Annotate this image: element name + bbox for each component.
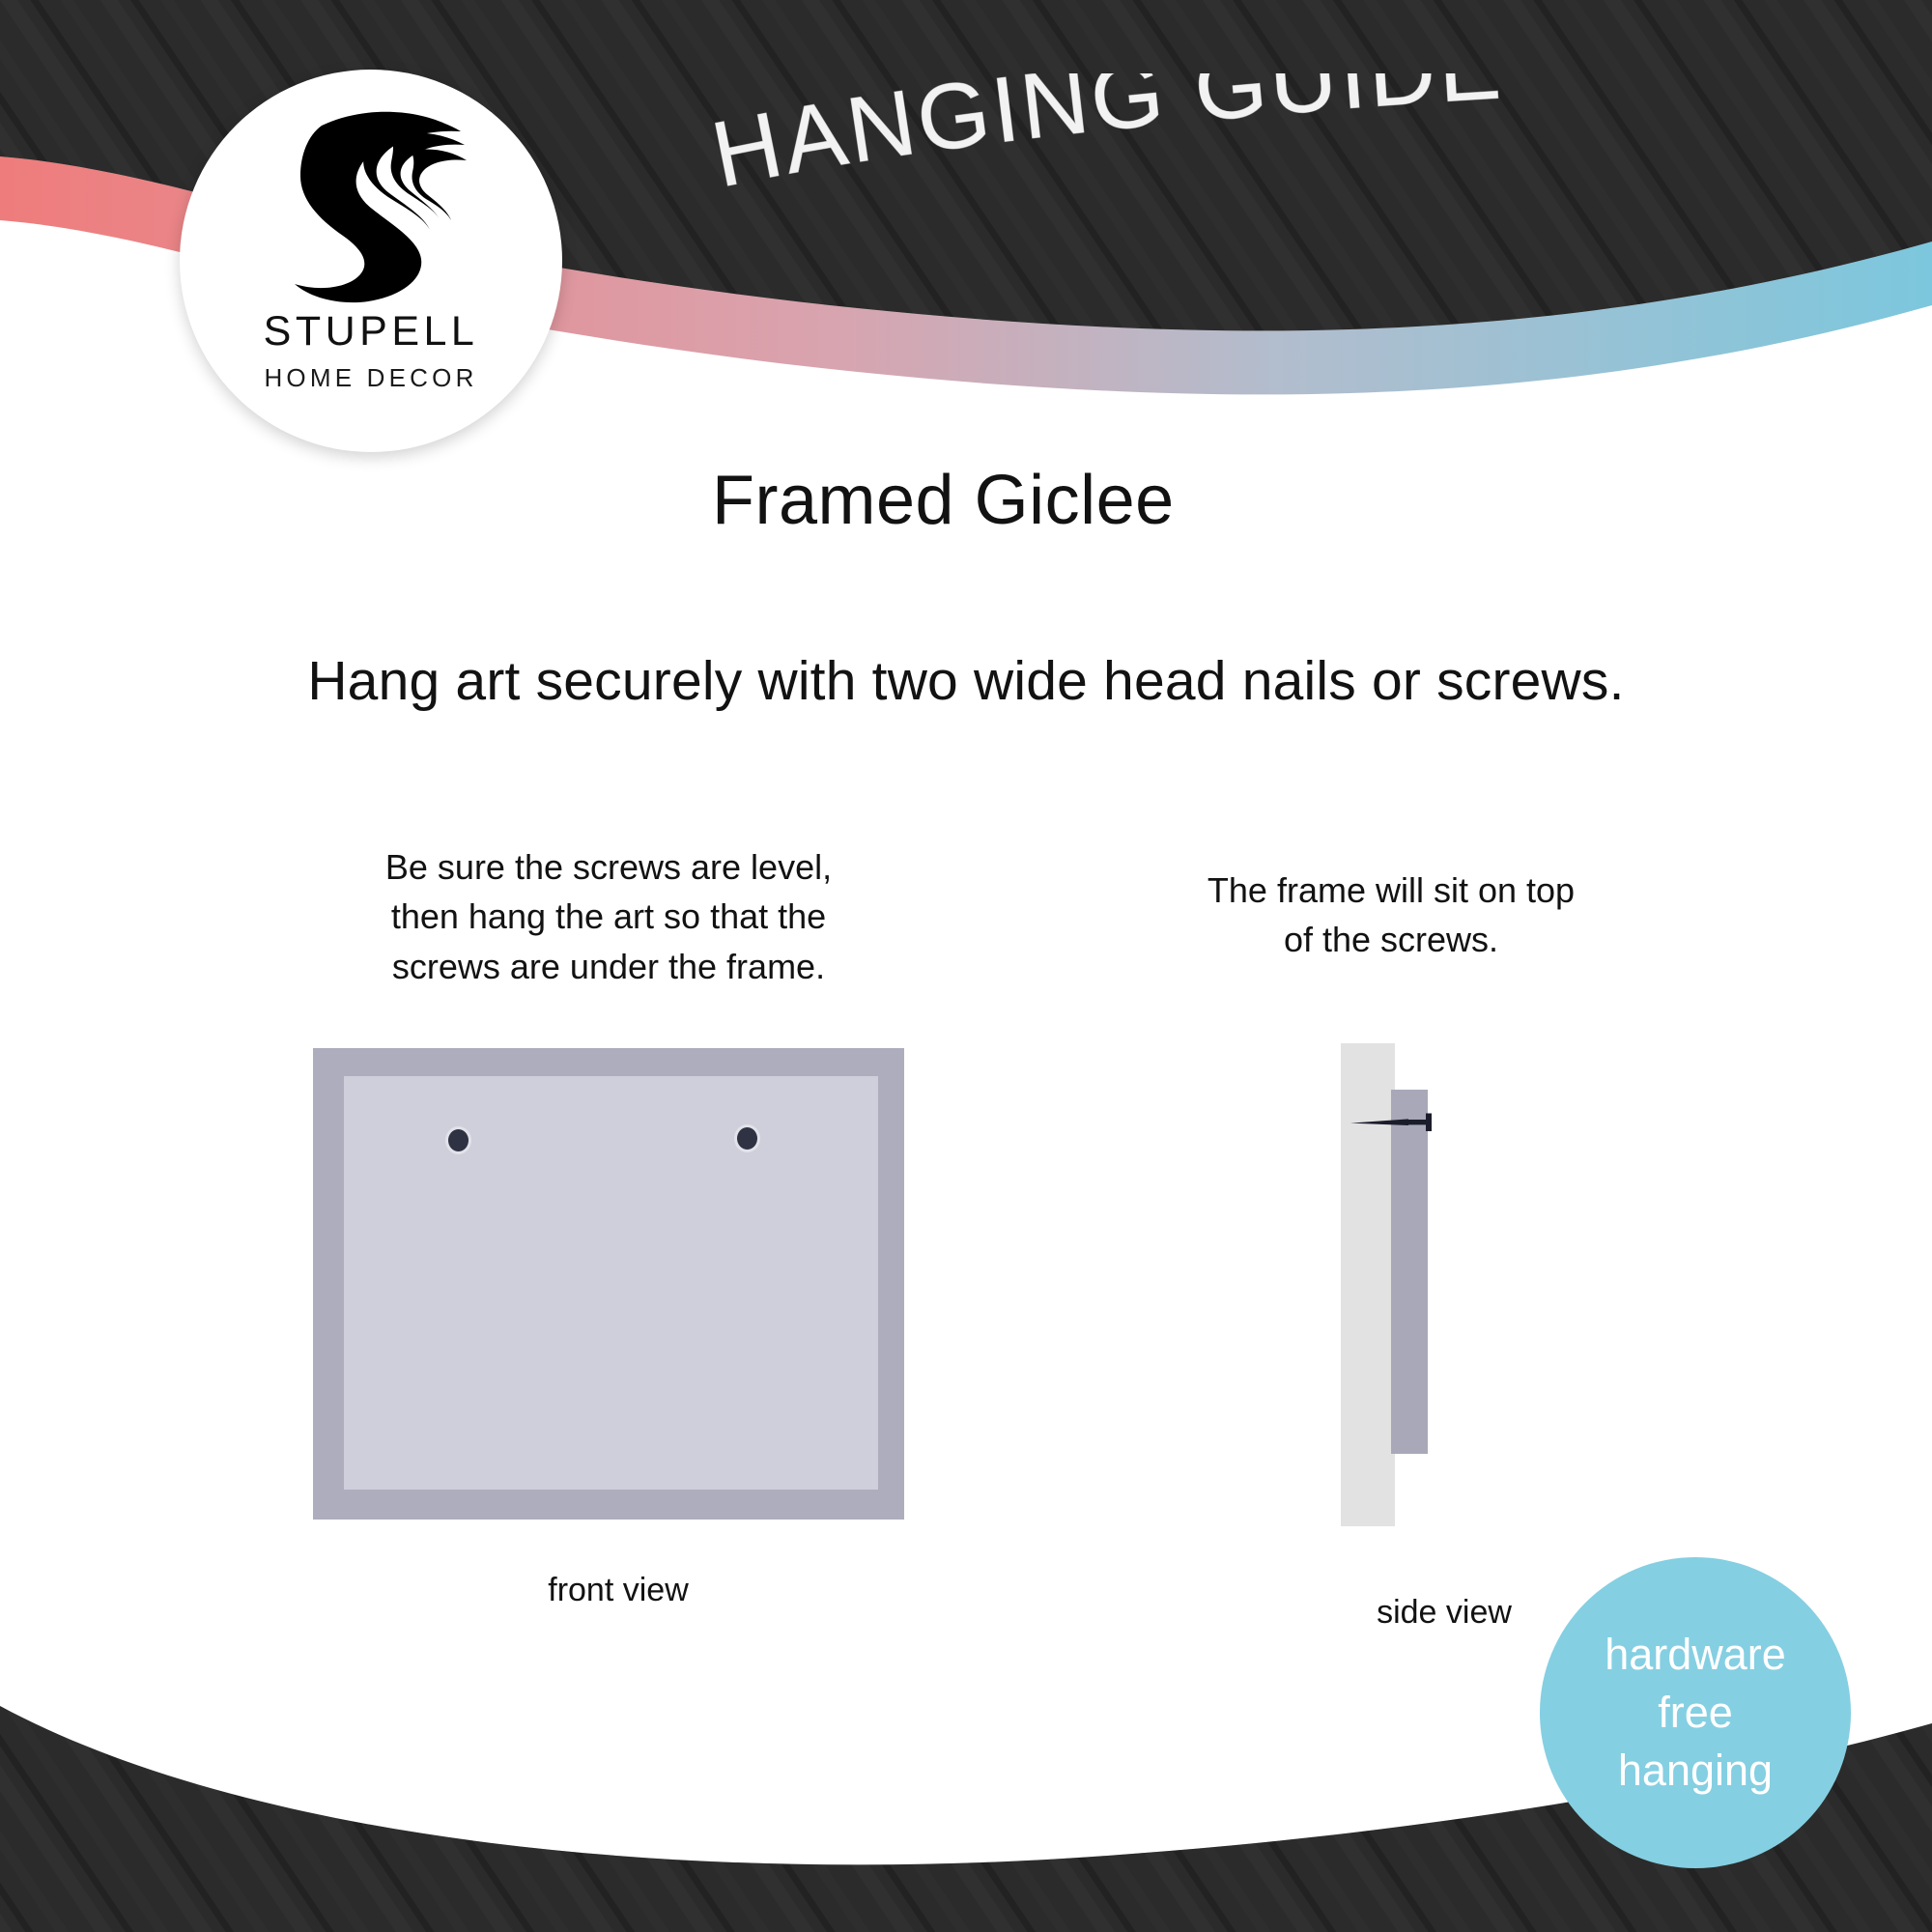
nail-icon [1349,1111,1441,1134]
hanging-guide-page: HANGING GUIDE STUPELL HOME DECOR Framed … [0,0,1932,1932]
side-view-caption-line-2: of the screws. [1140,915,1642,964]
page-title: HANGING GUIDE [715,73,1690,218]
side-view-caption-line-1: The frame will sit on top [1140,866,1642,915]
product-type-heading: Framed Giclee [712,461,1175,540]
badge-line-1: hardware [1605,1626,1786,1684]
hardware-free-hanging-badge: hardware free hanging [1540,1557,1851,1868]
svg-text:HANGING GUIDE: HANGING GUIDE [715,73,1506,207]
front-view-diagram [313,1048,904,1520]
brand-tagline: HOME DECOR [264,363,477,393]
brand-name: STUPELL [264,311,479,353]
screw-dot-right [737,1127,757,1150]
front-view-caption-line-3: screws are under the frame. [280,942,937,991]
front-view-label: front view [333,1572,903,1609]
front-view-caption-line-1: Be sure the screws are level, [280,842,937,892]
badge-line-2: free [1658,1684,1733,1742]
front-view-mat [344,1076,878,1490]
brand-logo-badge: STUPELL HOME DECOR [180,70,562,452]
side-view-diagram [1333,1043,1565,1526]
stupell-swoosh-logo-icon [270,102,472,307]
front-view-caption-line-2: then hang the art so that the [280,892,937,941]
lead-instruction: Hang art securely with two wide head nai… [0,649,1932,713]
badge-line-3: hanging [1618,1742,1773,1800]
page-title-text: HANGING GUIDE [715,73,1506,207]
screw-dot-left [448,1129,469,1151]
side-view-frame [1391,1090,1428,1454]
side-view-caption: The frame will sit on top of the screws. [1140,866,1642,965]
front-view-caption: Be sure the screws are level, then hang … [280,842,937,991]
